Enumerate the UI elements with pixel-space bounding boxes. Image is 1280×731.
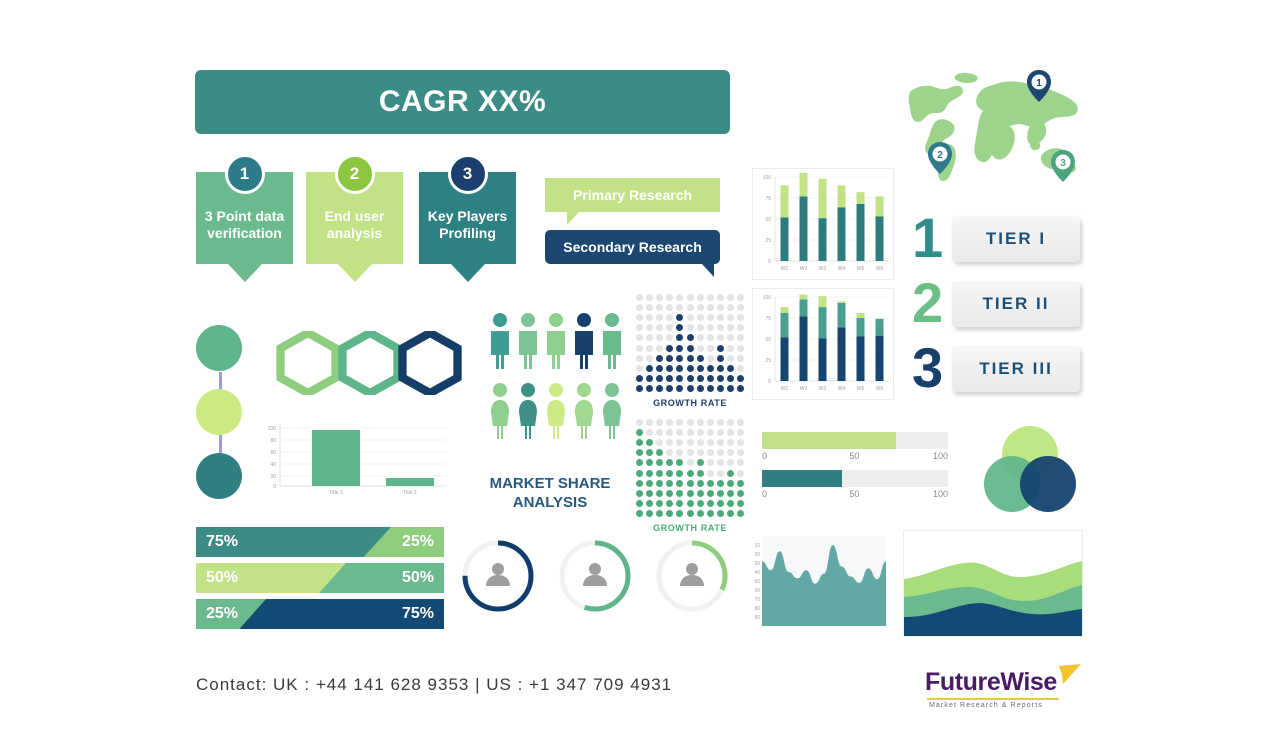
growth-rate-dot (666, 429, 673, 436)
growth-rate-dot (687, 385, 694, 392)
svg-text:50: 50 (754, 579, 760, 585)
circle-node-3 (196, 453, 242, 499)
growth-rate-dot (727, 294, 734, 301)
logo-name-wise: Wise (1000, 668, 1057, 696)
growth-rate-dot (687, 294, 694, 301)
svg-text:30: 30 (754, 561, 760, 567)
growth-rate-dot (697, 294, 704, 301)
growth-rate-dot (656, 375, 663, 382)
person-icon-female-4 (572, 382, 596, 440)
growth-rate-dot (636, 345, 643, 352)
growth-rate-dot-row (634, 488, 746, 498)
growth-rate-dot (717, 510, 724, 517)
growth-rate-dot (717, 459, 724, 466)
area-chart-teal: 908070605040302010 (748, 530, 888, 635)
stacked-bar-chart-top-svg: 0255075100W1W2W3W4W5W6 (753, 169, 893, 279)
svg-text:80: 80 (270, 438, 276, 444)
growth-rate-dot (707, 449, 714, 456)
hexagon-2-icon (338, 331, 402, 395)
svg-text:W5: W5 (857, 266, 865, 272)
growth-rate-dot (666, 375, 673, 382)
growth-rate-dot (697, 334, 704, 341)
growth-rate-dot-row (634, 499, 746, 509)
growth-rate-dot (676, 429, 683, 436)
growth-rate-dot (717, 334, 724, 341)
growth-rate-dot (687, 490, 694, 497)
arrow-bar-2-right-label: 50% (402, 563, 444, 593)
tier-label-1: TIER I (986, 229, 1046, 249)
growth-rate-dot (707, 480, 714, 487)
growth-rate-dot-row (634, 458, 746, 468)
person-icon-female-3 (544, 382, 568, 440)
venn-diagram-svg (980, 420, 1080, 520)
growth-rate-dot (656, 345, 663, 352)
svg-text:W4: W4 (838, 266, 846, 272)
growth-rate-dot (727, 500, 734, 507)
growth-rate-dot (646, 419, 653, 426)
svg-text:10: 10 (754, 543, 760, 549)
growth-rate-dot (666, 324, 673, 331)
svg-text:W6: W6 (876, 266, 884, 272)
growth-rate-dot (656, 419, 663, 426)
hexagon-1-icon (276, 331, 340, 395)
svg-text:W6: W6 (876, 386, 884, 392)
growth-rate-dot (656, 294, 663, 301)
svg-text:100: 100 (763, 175, 772, 181)
futurewise-logo[interactable]: FutureWise Market Research & Reports (925, 668, 1075, 709)
tier-label-3: TIER III (979, 359, 1053, 379)
person-icon-male-5 (600, 312, 624, 370)
growth-rate-dot (636, 334, 643, 341)
donut-ring-1-svg (458, 536, 538, 616)
growth-rate-dot (676, 480, 683, 487)
growth-rate-dot (687, 470, 694, 477)
svg-text:20: 20 (754, 552, 760, 558)
growth-rate-dot (697, 439, 704, 446)
svg-text:50: 50 (765, 337, 771, 343)
growth-rate-dot (697, 490, 704, 497)
growth-rate-dot (676, 439, 683, 446)
growth-rate-dot (727, 334, 734, 341)
growth-rate-dot (727, 304, 734, 311)
growth-rate-dot (727, 375, 734, 382)
growth-rate-dot (666, 334, 673, 341)
growth-rate-dot-row (634, 509, 746, 519)
slider-bar-1[interactable]: 0 50 100 (762, 432, 948, 465)
person-icon-female-2 (516, 382, 540, 440)
two-bar-chart: 100 80 60 40 20 0 Title 1 Title 2 (258, 420, 450, 498)
growth-rate-dot (737, 500, 744, 507)
person-icon-male-2 (516, 312, 540, 370)
growth-rate-dot-row (634, 374, 746, 384)
growth-rate-dot (717, 439, 724, 446)
slider-bar-2[interactable]: 0 50 100 (762, 470, 948, 503)
arrow-bar-1-left-label: 75% (196, 527, 238, 557)
growth-rate-dot (666, 365, 673, 372)
growth-rate-dot (737, 385, 744, 392)
growth-rate-dot (646, 294, 653, 301)
growth-rate-dot (707, 304, 714, 311)
growth-rate-dot (646, 385, 653, 392)
tier-label-2: TIER II (983, 294, 1050, 314)
growth-rate-dots-navy (634, 292, 746, 394)
svg-text:W3: W3 (819, 266, 827, 272)
slider-scale-2: 0 50 100 (762, 489, 948, 503)
growth-rate-dot (687, 480, 694, 487)
step-card-1[interactable]: 1 3 Point data verification (196, 172, 293, 264)
growth-rate-dot (646, 324, 653, 331)
growth-rate-dot (697, 510, 704, 517)
growth-rate-dot (636, 304, 643, 311)
growth-rate-dot (687, 355, 694, 362)
growth-rate-dot (717, 429, 724, 436)
growth-rate-dot (717, 324, 724, 331)
tier-row-2[interactable]: TIER II 2 (912, 281, 1080, 327)
step-tail-1 (228, 264, 262, 282)
growth-rate-dot (636, 419, 643, 426)
growth-rate-dot-row (634, 448, 746, 458)
growth-rate-dot (646, 345, 653, 352)
growth-rate-dot (666, 345, 673, 352)
growth-rate-dot (676, 459, 683, 466)
slider-track-2 (762, 470, 948, 487)
svg-text:W5: W5 (857, 386, 865, 392)
growth-rate-dot (737, 334, 744, 341)
growth-rate-dot (707, 419, 714, 426)
tier-row-3[interactable]: TIER III 3 (912, 346, 1080, 392)
growth-rate-dot (687, 500, 694, 507)
growth-rate-dot (656, 385, 663, 392)
svg-text:2: 2 (937, 150, 943, 161)
growth-rate-dot (697, 304, 704, 311)
growth-rate-dot (676, 490, 683, 497)
growth-rate-dot (656, 510, 663, 517)
tier-number-1: 1 (912, 210, 943, 266)
growth-rate-dot (707, 385, 714, 392)
callout-primary-research-label: Primary Research (573, 187, 692, 203)
growth-rate-dot (646, 314, 653, 321)
growth-rate-dot (656, 365, 663, 372)
growth-rate-dot (646, 334, 653, 341)
growth-rate-dot (666, 304, 673, 311)
venn-diagram (980, 420, 1080, 520)
growth-rate-dot (697, 480, 704, 487)
svg-text:0: 0 (768, 259, 771, 265)
tier-number-2: 2 (912, 275, 943, 331)
growth-rate-dot (687, 314, 694, 321)
growth-rate-dot (646, 500, 653, 507)
slider-scale-1: 0 50 100 (762, 451, 948, 465)
growth-rate-dot (646, 449, 653, 456)
growth-rate-dot (707, 294, 714, 301)
growth-rate-dot (727, 459, 734, 466)
stacked-bar-chart-bottom: 0255075100W1W2W3W4W5W6 (752, 288, 894, 400)
growth-rate-dot (717, 490, 724, 497)
growth-rate-dot (656, 334, 663, 341)
donut-ring-3-svg (652, 536, 732, 616)
slider-fill-1 (762, 432, 896, 449)
step-card-2[interactable]: 2 End user analysis (306, 172, 403, 264)
svg-text:3: 3 (1060, 158, 1066, 169)
growth-rate-dot-row (634, 478, 746, 488)
step-badge-2: 2 (335, 154, 375, 194)
growth-rate-dot-row (634, 323, 746, 333)
growth-rate-dot-row (634, 343, 746, 353)
tier-number-3: 3 (912, 340, 943, 396)
growth-rate-dot (656, 490, 663, 497)
slider-tick-2-0: 0 (762, 489, 767, 499)
svg-text:W1: W1 (781, 386, 789, 392)
stacked-bar-chart-top: 0255075100W1W2W3W4W5W6 (752, 168, 894, 280)
growth-rate-dot (707, 470, 714, 477)
growth-rate-dot (717, 500, 724, 507)
growth-rate-dot (636, 459, 643, 466)
growth-rate-dot (727, 470, 734, 477)
growth-rate-dot (646, 429, 653, 436)
circle-node-1 (196, 325, 242, 371)
growth-rate-dot-row (634, 312, 746, 322)
growth-rate-dot (666, 355, 673, 362)
growth-rate-dot (697, 324, 704, 331)
growth-rate-dot (656, 324, 663, 331)
growth-rate-dot (707, 459, 714, 466)
logo-rule (927, 698, 1059, 700)
person-icon-male-1 (488, 312, 512, 370)
logo-name-future: Future (925, 668, 1000, 696)
growth-rate-dot-row (634, 302, 746, 312)
svg-text:70: 70 (754, 597, 760, 603)
person-icon-male-4 (572, 312, 596, 370)
tier-row-1[interactable]: TIER I 1 (912, 216, 1080, 262)
growth-rate-dot (666, 500, 673, 507)
growth-rate-dot (727, 365, 734, 372)
svg-text:40: 40 (270, 462, 276, 468)
arrow-bar-2-left-label: 50% (196, 563, 238, 593)
growth-rate-dot (737, 324, 744, 331)
person-icon-female-1 (488, 382, 512, 440)
callout-secondary-tip (702, 264, 714, 277)
logo-arrow-icon (1057, 664, 1083, 686)
growth-rate-dot (636, 439, 643, 446)
svg-text:0: 0 (273, 484, 276, 490)
callout-primary-tip (567, 212, 579, 225)
growth-rate-dot-row (634, 437, 746, 447)
growth-rate-dot (656, 355, 663, 362)
growth-rate-dot (717, 419, 724, 426)
person-icon-female-5 (600, 382, 624, 440)
growth-rate-dot-row (634, 363, 746, 373)
growth-rate-dot (727, 419, 734, 426)
growth-rate-dot (737, 375, 744, 382)
growth-rate-dot (666, 314, 673, 321)
svg-text:W1: W1 (781, 266, 789, 272)
growth-rate-dot (666, 490, 673, 497)
growth-rate-dot (727, 324, 734, 331)
donut-ring-2 (555, 536, 635, 616)
growth-rate-dot (707, 510, 714, 517)
growth-rate-dot (656, 304, 663, 311)
growth-rate-dot (697, 419, 704, 426)
growth-rate-dot (666, 439, 673, 446)
svg-text:25: 25 (765, 238, 771, 244)
growth-rate-dot (707, 490, 714, 497)
growth-rate-dot (727, 449, 734, 456)
donut-ring-1 (458, 536, 538, 616)
growth-rate-dot (717, 345, 724, 352)
people-row-male (486, 312, 626, 370)
growth-rate-dot (636, 510, 643, 517)
growth-rate-dot (666, 510, 673, 517)
callout-secondary-research-label: Secondary Research (563, 239, 702, 255)
stacked-area-chart (903, 530, 1083, 637)
slider-track-1 (762, 432, 948, 449)
growth-rate-dot (727, 480, 734, 487)
tier-plate-3: TIER III (952, 346, 1080, 392)
svg-text:40: 40 (754, 570, 760, 576)
hexagon-3-icon (398, 331, 462, 395)
growth-rate-dot (646, 480, 653, 487)
svg-text:75: 75 (765, 316, 771, 322)
growth-rate-dot (737, 294, 744, 301)
growth-rate-dot (727, 510, 734, 517)
arrow-bar-1-right-label: 25% (402, 527, 444, 557)
growth-rate-dot (676, 304, 683, 311)
growth-rate-dot (697, 459, 704, 466)
growth-rate-dot (697, 345, 704, 352)
growth-rate-dot (636, 355, 643, 362)
callout-secondary-research[interactable]: Secondary Research (545, 230, 720, 264)
growth-rate-dot (707, 355, 714, 362)
arrow-bar-1: 75% 25% (196, 527, 444, 557)
growth-rate-dot (646, 510, 653, 517)
growth-rate-dot (737, 365, 744, 372)
svg-text:25: 25 (765, 358, 771, 364)
callout-primary-research[interactable]: Primary Research (545, 178, 720, 212)
slider-tick-1-50: 50 (849, 451, 859, 461)
growth-rate-dot (737, 345, 744, 352)
growth-rate-dot (737, 304, 744, 311)
growth-rate-dot (697, 449, 704, 456)
growth-rate-dot (656, 449, 663, 456)
growth-rate-dot (636, 365, 643, 372)
growth-rate-dot-row (634, 427, 746, 437)
growth-rate-dot (666, 459, 673, 466)
growth-rate-dot (697, 365, 704, 372)
growth-rate-dot (717, 449, 724, 456)
growth-rate-dot (646, 375, 653, 382)
growth-rate-dot (636, 375, 643, 382)
cagr-header-bar: CAGR XX% (195, 70, 730, 134)
growth-rate-dot (656, 439, 663, 446)
growth-rate-dot (676, 355, 683, 362)
svg-text:0: 0 (768, 379, 771, 385)
cagr-header-title: CAGR XX% (379, 85, 546, 119)
growth-rate-dot (666, 294, 673, 301)
growth-rate-dot (737, 470, 744, 477)
growth-rate-dot (676, 500, 683, 507)
svg-text:90: 90 (754, 615, 760, 621)
world-map: 1 2 3 (900, 62, 1090, 187)
growth-rate-dot (687, 439, 694, 446)
growth-rate-dot (687, 324, 694, 331)
growth-rate-dot-row (634, 353, 746, 363)
growth-rate-dot (727, 490, 734, 497)
growth-rate-dot (717, 314, 724, 321)
growth-rate-dot (707, 365, 714, 372)
tier-plate-2: TIER II (952, 281, 1080, 327)
svg-text:50: 50 (765, 217, 771, 223)
growth-rate-dot (666, 385, 673, 392)
growth-rate-dot (687, 345, 694, 352)
growth-rate-dot (676, 324, 683, 331)
people-row-female (486, 382, 626, 440)
growth-rate-dot (707, 345, 714, 352)
growth-rate-dot (727, 314, 734, 321)
growth-rate-dot-row (634, 468, 746, 478)
hexagon-3 (398, 331, 462, 395)
growth-rate-dot (697, 385, 704, 392)
growth-rate-dot-row (634, 417, 746, 427)
growth-rate-dot (687, 375, 694, 382)
growth-rate-dot (676, 375, 683, 382)
growth-rate-dot (646, 459, 653, 466)
growth-rate-dot (697, 355, 704, 362)
person-icon-male-3 (544, 312, 568, 370)
growth-rate-dot (656, 429, 663, 436)
svg-text:W2: W2 (800, 386, 808, 392)
hexagon-1 (276, 331, 340, 395)
arrow-bar-3-right-label: 75% (402, 599, 444, 629)
growth-rate-dot (737, 419, 744, 426)
growth-rate-dot (717, 470, 724, 477)
svg-text:75: 75 (765, 196, 771, 202)
growth-rate-dot (676, 365, 683, 372)
growth-rate-dot (636, 500, 643, 507)
growth-rate-dot (636, 470, 643, 477)
growth-rate-dot (646, 304, 653, 311)
growth-rate-dot (687, 304, 694, 311)
slider-tick-1-100: 100 (933, 451, 948, 461)
growth-rate-dot (646, 470, 653, 477)
growth-rate-dot (717, 480, 724, 487)
donut-ring-2-svg (555, 536, 635, 616)
slider-tick-2-100: 100 (933, 489, 948, 499)
growth-rate-dot (737, 355, 744, 362)
growth-rate-dot (697, 375, 704, 382)
growth-rate-dot (727, 385, 734, 392)
growth-rate-dot (656, 480, 663, 487)
growth-rate-caption-navy: GROWTH RATE (634, 398, 746, 408)
step-tail-3 (451, 264, 485, 282)
growth-rate-dot (737, 429, 744, 436)
growth-rate-dot (676, 449, 683, 456)
growth-rate-dot (737, 314, 744, 321)
growth-rate-dot (717, 365, 724, 372)
growth-rate-dot (717, 385, 724, 392)
area-chart-teal-svg: 908070605040302010 (748, 530, 888, 635)
growth-rate-dot (687, 459, 694, 466)
growth-rate-dot (676, 334, 683, 341)
growth-rate-dot (636, 429, 643, 436)
svg-text:W2: W2 (800, 266, 808, 272)
world-map-svg: 1 2 3 (900, 62, 1090, 187)
growth-rate-dot (687, 334, 694, 341)
step-badge-1: 1 (225, 154, 265, 194)
market-share-analysis-label: MARKET SHARE ANALYSIS (465, 475, 635, 513)
growth-rate-panel-green: GROWTH RATE (634, 417, 746, 533)
svg-text:60: 60 (270, 450, 276, 456)
step-card-3[interactable]: 3 Key Players Profiling (419, 172, 516, 264)
